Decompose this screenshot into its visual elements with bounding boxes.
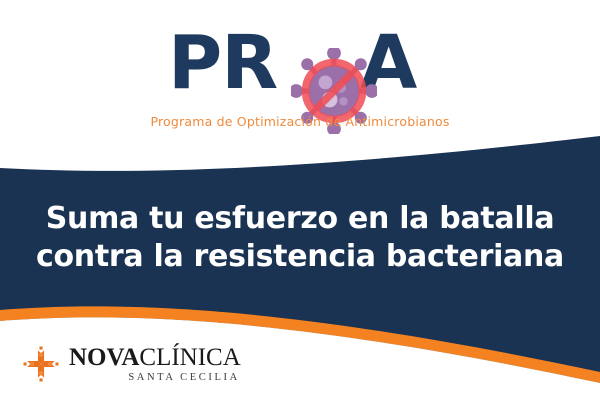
novaclinica-wordmark: NOVACLÍNICA SANTA CECILIA (69, 345, 241, 384)
proa-wordmark: PR A (0, 22, 600, 104)
headline: Suma tu esfuerzo en la batalla contra la… (0, 200, 600, 276)
proa-subtitle: Programa de Optimización de Antimicrobia… (0, 114, 600, 129)
pinwheel-arms (24, 347, 59, 382)
clinic-name-line: NOVACLÍNICA (69, 345, 241, 370)
proa-logo: PR A (0, 22, 600, 137)
poster-canvas: PR A (0, 0, 600, 403)
clinic-name-bold: NOVA (69, 344, 139, 371)
clinic-name-light: CLÍNICA (139, 344, 240, 371)
proa-letters-before-icon: PR (168, 22, 277, 104)
clinic-subname: SANTA CECILIA (69, 371, 241, 384)
headline-line-1: Suma tu esfuerzo en la batalla (0, 200, 600, 238)
novaclinica-logo: NOVACLÍNICA SANTA CECILIA (22, 341, 241, 387)
novaclinica-pinwheel-icon (22, 345, 60, 383)
headline-line-2: contra la resistencia bacteriana (0, 238, 600, 276)
